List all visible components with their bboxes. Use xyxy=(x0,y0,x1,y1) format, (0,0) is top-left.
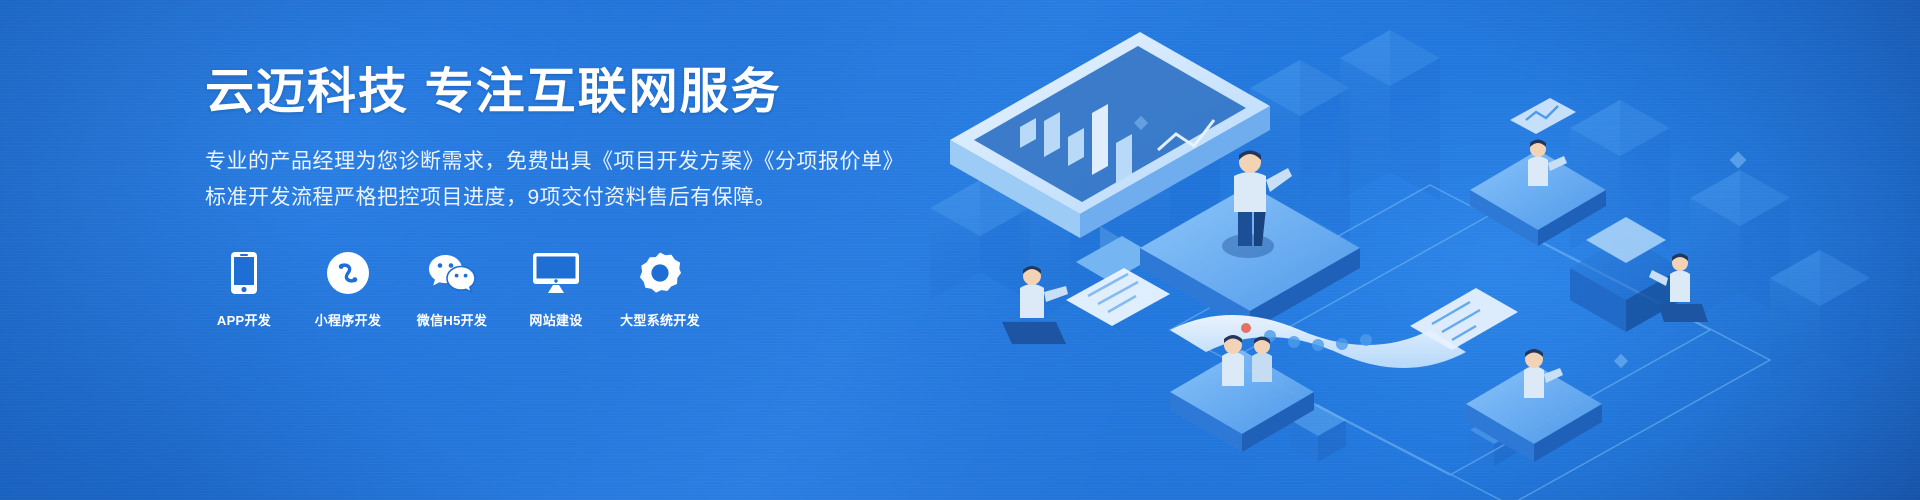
service-label-large-system: 大型系统开发 xyxy=(620,310,700,329)
hero-banner: 云迈科技 专注互联网服务 专业的产品经理为您诊断需求，免费出具《项目开发方案》《… xyxy=(0,0,1920,500)
service-label-website: 网站建设 xyxy=(529,310,582,329)
service-item-app[interactable]: APP开发 xyxy=(205,250,283,329)
service-item-mini-program[interactable]: 小程序开发 xyxy=(309,250,387,329)
monitor-icon xyxy=(533,250,579,296)
banner-subtitle-line-2: 标准开发流程严格把控项目进度，9项交付资料售后有保障。 xyxy=(205,180,1105,216)
service-label-wechat-h5: 微信H5开发 xyxy=(417,310,487,329)
service-item-large-system[interactable]: 大型系统开发 xyxy=(621,250,699,329)
service-label-app: APP开发 xyxy=(217,310,271,329)
banner-subtitle-line-1: 专业的产品经理为您诊断需求，免费出具《项目开发方案》《分项报价单》 xyxy=(205,144,1105,180)
service-label-mini-program: 小程序开发 xyxy=(315,310,382,329)
mini-program-icon xyxy=(327,250,369,296)
service-item-wechat[interactable]: 微信H5开发 xyxy=(413,250,491,329)
service-list: APP开发 小程序开发 xyxy=(205,250,1105,329)
banner-subtitle: 专业的产品经理为您诊断需求，免费出具《项目开发方案》《分项报价单》 标准开发流程… xyxy=(205,144,1105,216)
service-item-website[interactable]: 网站建设 xyxy=(517,250,595,329)
banner-headline: 云迈科技 专注互联网服务 xyxy=(205,64,1105,122)
gear-icon xyxy=(639,250,681,296)
mobile-phone-icon xyxy=(231,250,257,296)
banner-content: 云迈科技 专注互联网服务 专业的产品经理为您诊断需求，免费出具《项目开发方案》《… xyxy=(205,64,1105,329)
wechat-icon xyxy=(428,250,476,296)
